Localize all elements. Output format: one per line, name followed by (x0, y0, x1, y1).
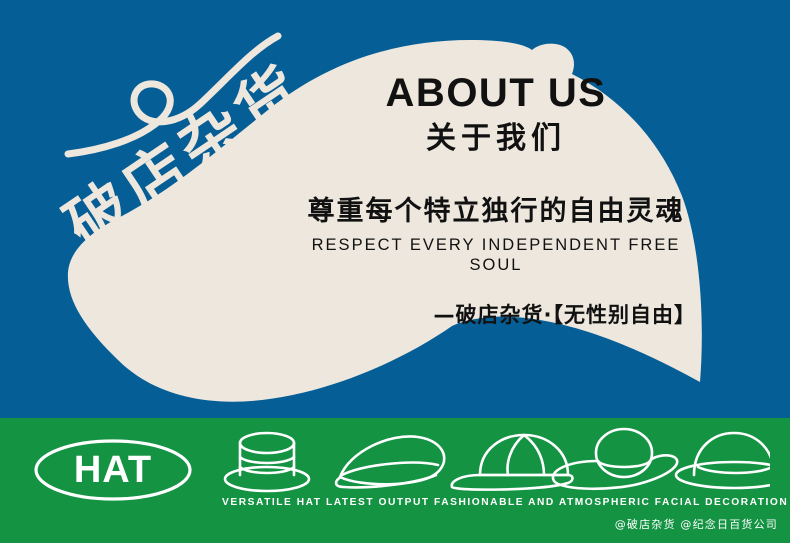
about-text-block: ABOUT US 关于我们 尊重每个特立独行的自由灵魂 RESPECT EVER… (286, 72, 706, 329)
slogan-en: RESPECT EVERY INDEPENDENT FREE SOUL (286, 236, 706, 276)
footer-tagline: VERSATILE HAT LATEST OUTPUT FASHIONABLE … (222, 497, 778, 508)
hat-icon-row (222, 425, 770, 493)
about-title-en: ABOUT US (286, 72, 706, 114)
top-hat-icon (225, 433, 309, 491)
hat-logo: HAT (32, 438, 194, 502)
bowler-hat-icon (676, 433, 770, 488)
about-title-cn: 关于我们 (286, 120, 706, 158)
slogan-cn: 尊重每个特立独行的自由灵魂 (286, 196, 706, 228)
poster-canvas: 破店杂货 ABOUT US 关于我们 尊重每个特立独行的自由灵魂 RESPECT… (0, 0, 790, 543)
hat-logo-label: HAT (32, 438, 194, 502)
social-handles: @破店杂货 @纪念日百货公司 (615, 516, 778, 532)
flat-cap-icon (336, 436, 444, 487)
attribution-line: —破店杂货·【无性别自由】 (286, 303, 706, 328)
